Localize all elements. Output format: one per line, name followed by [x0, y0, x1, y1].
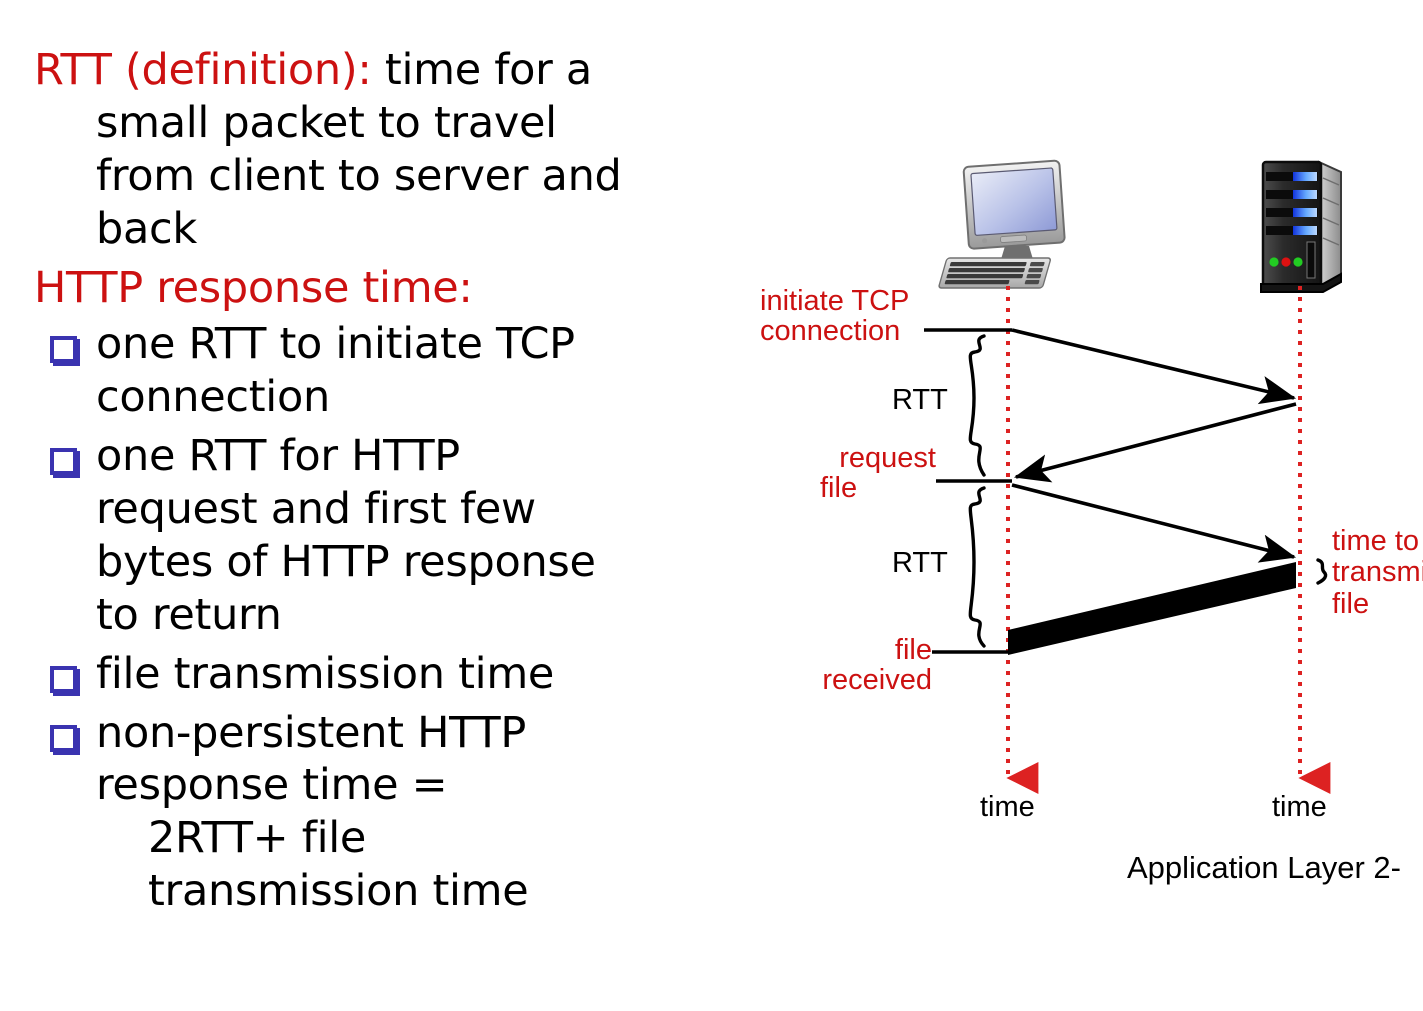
- label-rtt-second: RTT: [892, 548, 948, 578]
- transmit-brace: [1318, 560, 1326, 583]
- label-file-received: file received: [760, 635, 932, 695]
- label-rtt-first: RTT: [892, 385, 948, 415]
- slide-canvas: RTT (definition): time for a small packe…: [0, 0, 1423, 1011]
- list-item: non-persistent HTTP response time = 2RTT…: [34, 707, 734, 919]
- label-transmit-line-3: file: [1332, 588, 1369, 620]
- rtt-brace-2: [970, 488, 984, 646]
- rtt-definition-rest: time for a: [372, 45, 592, 95]
- server-tower-icon: [1261, 162, 1341, 292]
- rtt-definition-line-2: small packet to travel: [96, 98, 557, 148]
- bullet-3-line-1: file transmission time: [96, 649, 554, 699]
- label-initiate-tcp-line-2: connection: [760, 315, 900, 347]
- bullet-2-line-2: request and first few: [96, 484, 536, 534]
- bullet-4-subline-2: transmission time: [96, 865, 734, 918]
- rtt-definition-paragraph: RTT (definition): time for a small packe…: [34, 44, 734, 256]
- label-transmit-line-2: transmit: [1332, 556, 1423, 588]
- bullet-4-line-1: non-persistent HTTP: [96, 708, 526, 758]
- square-bullet-icon: [50, 336, 77, 363]
- label-file-received-line-2: received: [822, 664, 932, 696]
- square-bullet-icon: [50, 448, 77, 475]
- bullet-4-subline-1: 2RTT+ file: [96, 812, 734, 865]
- bullet-2-line-3: bytes of HTTP response: [96, 537, 596, 587]
- http-response-time-diagram: initiate TCP connection RTT request file…: [740, 140, 1423, 880]
- rtt-definition-line-4: back: [96, 204, 197, 254]
- bullet-4-line-2: response time =: [96, 760, 447, 810]
- arrow-request-to-server: [1012, 485, 1294, 557]
- bullet-1-line-1: one RTT to initiate TCP: [96, 319, 575, 369]
- text-column: RTT (definition): time for a small packe…: [34, 44, 734, 924]
- label-request-file-line-1: request: [839, 442, 936, 474]
- http-response-time-heading: HTTP response time:: [34, 262, 734, 315]
- rtt-definition-line-3: from client to server and: [96, 151, 622, 201]
- label-file-received-line-1: file: [895, 634, 932, 666]
- label-time-to-transmit-file: time to transmit file: [1332, 526, 1423, 620]
- bullet-2-line-4: to return: [96, 590, 282, 640]
- arrow-synack-to-client: [1016, 404, 1296, 477]
- label-request-file-line-2: file: [796, 473, 936, 503]
- slide-footer: Application Layer 2-: [1127, 850, 1401, 886]
- diagram-svg: [740, 140, 1423, 880]
- list-item: file transmission time: [34, 648, 734, 701]
- bullet-2-line-1: one RTT for HTTP: [96, 431, 460, 481]
- label-request-file: request file: [796, 443, 936, 503]
- label-initiate-tcp-line-1: initiate TCP: [760, 285, 909, 317]
- square-bullet-icon: [50, 725, 77, 752]
- bullet-1-line-2: connection: [96, 372, 330, 422]
- desktop-computer-icon: [938, 160, 1064, 288]
- label-transmit-line-1: time to: [1332, 525, 1419, 557]
- label-initiate-tcp: initiate TCP connection: [760, 286, 909, 346]
- list-item: one RTT to initiate TCP connection: [34, 318, 734, 424]
- label-time-client: time: [980, 792, 1035, 822]
- square-bullet-icon: [50, 666, 77, 693]
- label-time-server: time: [1272, 792, 1327, 822]
- arrow-syn-to-server: [1012, 330, 1294, 398]
- rtt-brace-1: [970, 336, 984, 475]
- bullet-list: one RTT to initiate TCP connection one R…: [34, 318, 734, 918]
- list-item: one RTT for HTTP request and first few b…: [34, 430, 734, 642]
- file-transmission-bar: [1008, 562, 1296, 655]
- rtt-definition-term: RTT (definition):: [34, 45, 372, 95]
